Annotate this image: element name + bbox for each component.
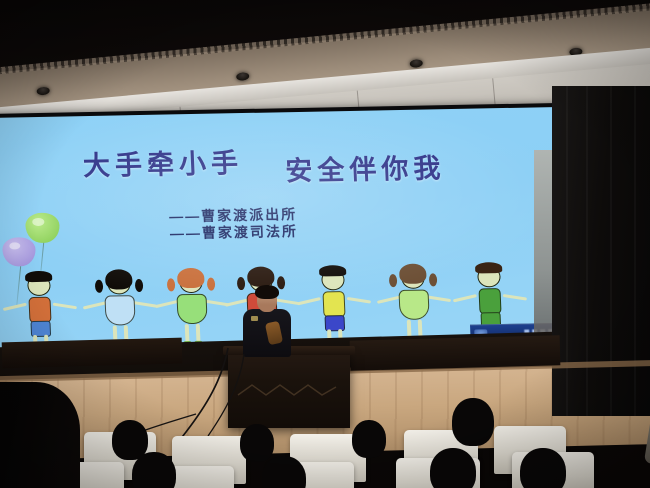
- slide-title-part2: 安全伴你我: [284, 146, 446, 188]
- kid-arm: [275, 298, 299, 305]
- audience-member: [132, 452, 176, 488]
- kid-body: [28, 297, 51, 323]
- presenter-badge: [251, 316, 258, 321]
- kid-pigtail: [237, 277, 246, 290]
- kid-hair: [475, 262, 502, 274]
- slide-title-part1: 大手牵小手: [82, 148, 243, 181]
- audience-member: [430, 448, 476, 488]
- kid-arm: [427, 295, 451, 302]
- ceiling-spotlight: [236, 72, 250, 81]
- kid-arm: [53, 303, 77, 310]
- kid-arm: [453, 294, 477, 302]
- kid-body: [104, 295, 135, 326]
- green-balloon: [25, 213, 60, 244]
- kid-arm: [133, 301, 157, 308]
- projection-screen: 大手牵小手安全伴你我 ——曹家渡派出所 ——曹家渡司法所: [0, 106, 607, 360]
- kid-arm: [3, 303, 27, 311]
- kid-arm: [297, 297, 321, 305]
- kid-hair: [399, 264, 427, 285]
- kid-pigtail: [95, 280, 104, 293]
- kid-arm: [155, 300, 179, 308]
- kid-arm: [377, 296, 401, 304]
- kid-body: [478, 288, 501, 314]
- kid-hair: [247, 266, 275, 287]
- kid-body: [398, 289, 429, 320]
- audience-member: [240, 424, 274, 462]
- slide-subtitle-line2: ——曹家渡司法所: [170, 223, 299, 242]
- kid-hair: [177, 268, 205, 289]
- kid-arm: [503, 294, 527, 301]
- kid-pigtail: [277, 276, 286, 289]
- kid-pigtail: [389, 274, 398, 287]
- projection-screen-frame: 大手牵小手安全伴你我 ——曹家渡派出所 ——曹家渡司法所: [0, 102, 611, 364]
- slide-subtitle: ——曹家渡派出所 ——曹家渡司法所: [169, 206, 298, 242]
- kid-arm: [83, 301, 107, 309]
- audience-member: [520, 448, 566, 488]
- kid-pigtail: [167, 278, 176, 291]
- ceiling-spotlight: [36, 86, 50, 95]
- foreground-silhouette-left: [0, 382, 80, 488]
- audience-member: [452, 398, 494, 446]
- kid-body: [176, 294, 207, 325]
- kid-hair: [25, 271, 52, 283]
- kid-arm: [347, 297, 371, 304]
- purple-balloon: [2, 237, 36, 267]
- kid-pigtail: [135, 279, 144, 292]
- presenter-hair: [255, 285, 279, 299]
- auditorium-scene: 大手牵小手安全伴你我 ——曹家渡派出所 ——曹家渡司法所: [0, 0, 650, 488]
- kid-arm: [225, 298, 249, 306]
- kid-body: [322, 291, 345, 317]
- slide-title: 大手牵小手安全伴你我: [82, 135, 554, 183]
- ceiling-spotlight: [409, 59, 423, 68]
- kid-hair: [319, 265, 346, 277]
- kid-pigtail: [429, 273, 438, 286]
- kid-hair: [105, 269, 133, 290]
- kid-pigtail: [207, 278, 216, 291]
- audience-member: [352, 420, 386, 458]
